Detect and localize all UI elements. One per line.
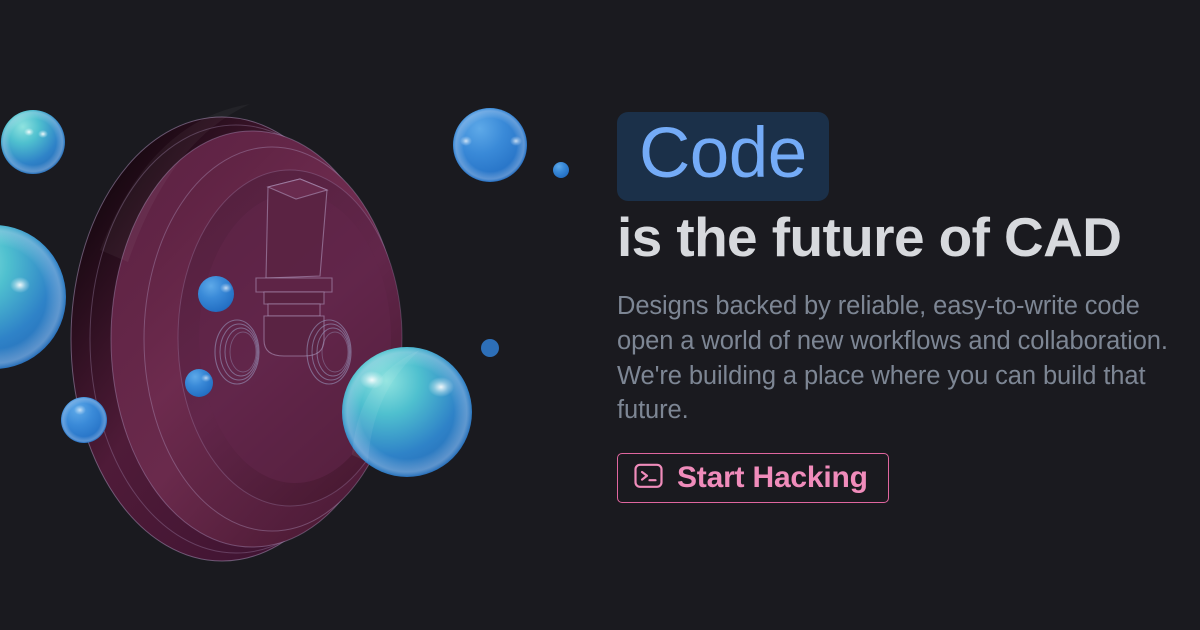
start-hacking-button[interactable]: Start Hacking (617, 453, 889, 503)
sphere-top-right (453, 108, 527, 182)
sphere-center-large (342, 347, 472, 477)
sphere-disc-lower (185, 369, 213, 397)
sphere-left-large (0, 225, 66, 369)
cad-disc-artwork (0, 0, 620, 630)
hero-description: Designs backed by reliable, easy-to-writ… (617, 289, 1177, 428)
sphere-dot-mid-right (481, 339, 499, 357)
hero-content: Code is the future of CAD Designs backed… (617, 112, 1177, 503)
terminal-icon (634, 463, 663, 492)
sphere-top-left (1, 110, 65, 174)
sphere-dot-upper-right (553, 162, 569, 178)
hero-banner: Code is the future of CAD Designs backed… (0, 0, 1200, 630)
sphere-left-small (61, 397, 107, 443)
code-badge: Code (617, 112, 829, 201)
page-title: is the future of CAD (617, 210, 1177, 265)
sphere-disc-upper (198, 276, 234, 312)
cad-disc-body (71, 104, 402, 561)
start-hacking-label: Start Hacking (677, 463, 868, 493)
cad-stem (256, 179, 332, 356)
